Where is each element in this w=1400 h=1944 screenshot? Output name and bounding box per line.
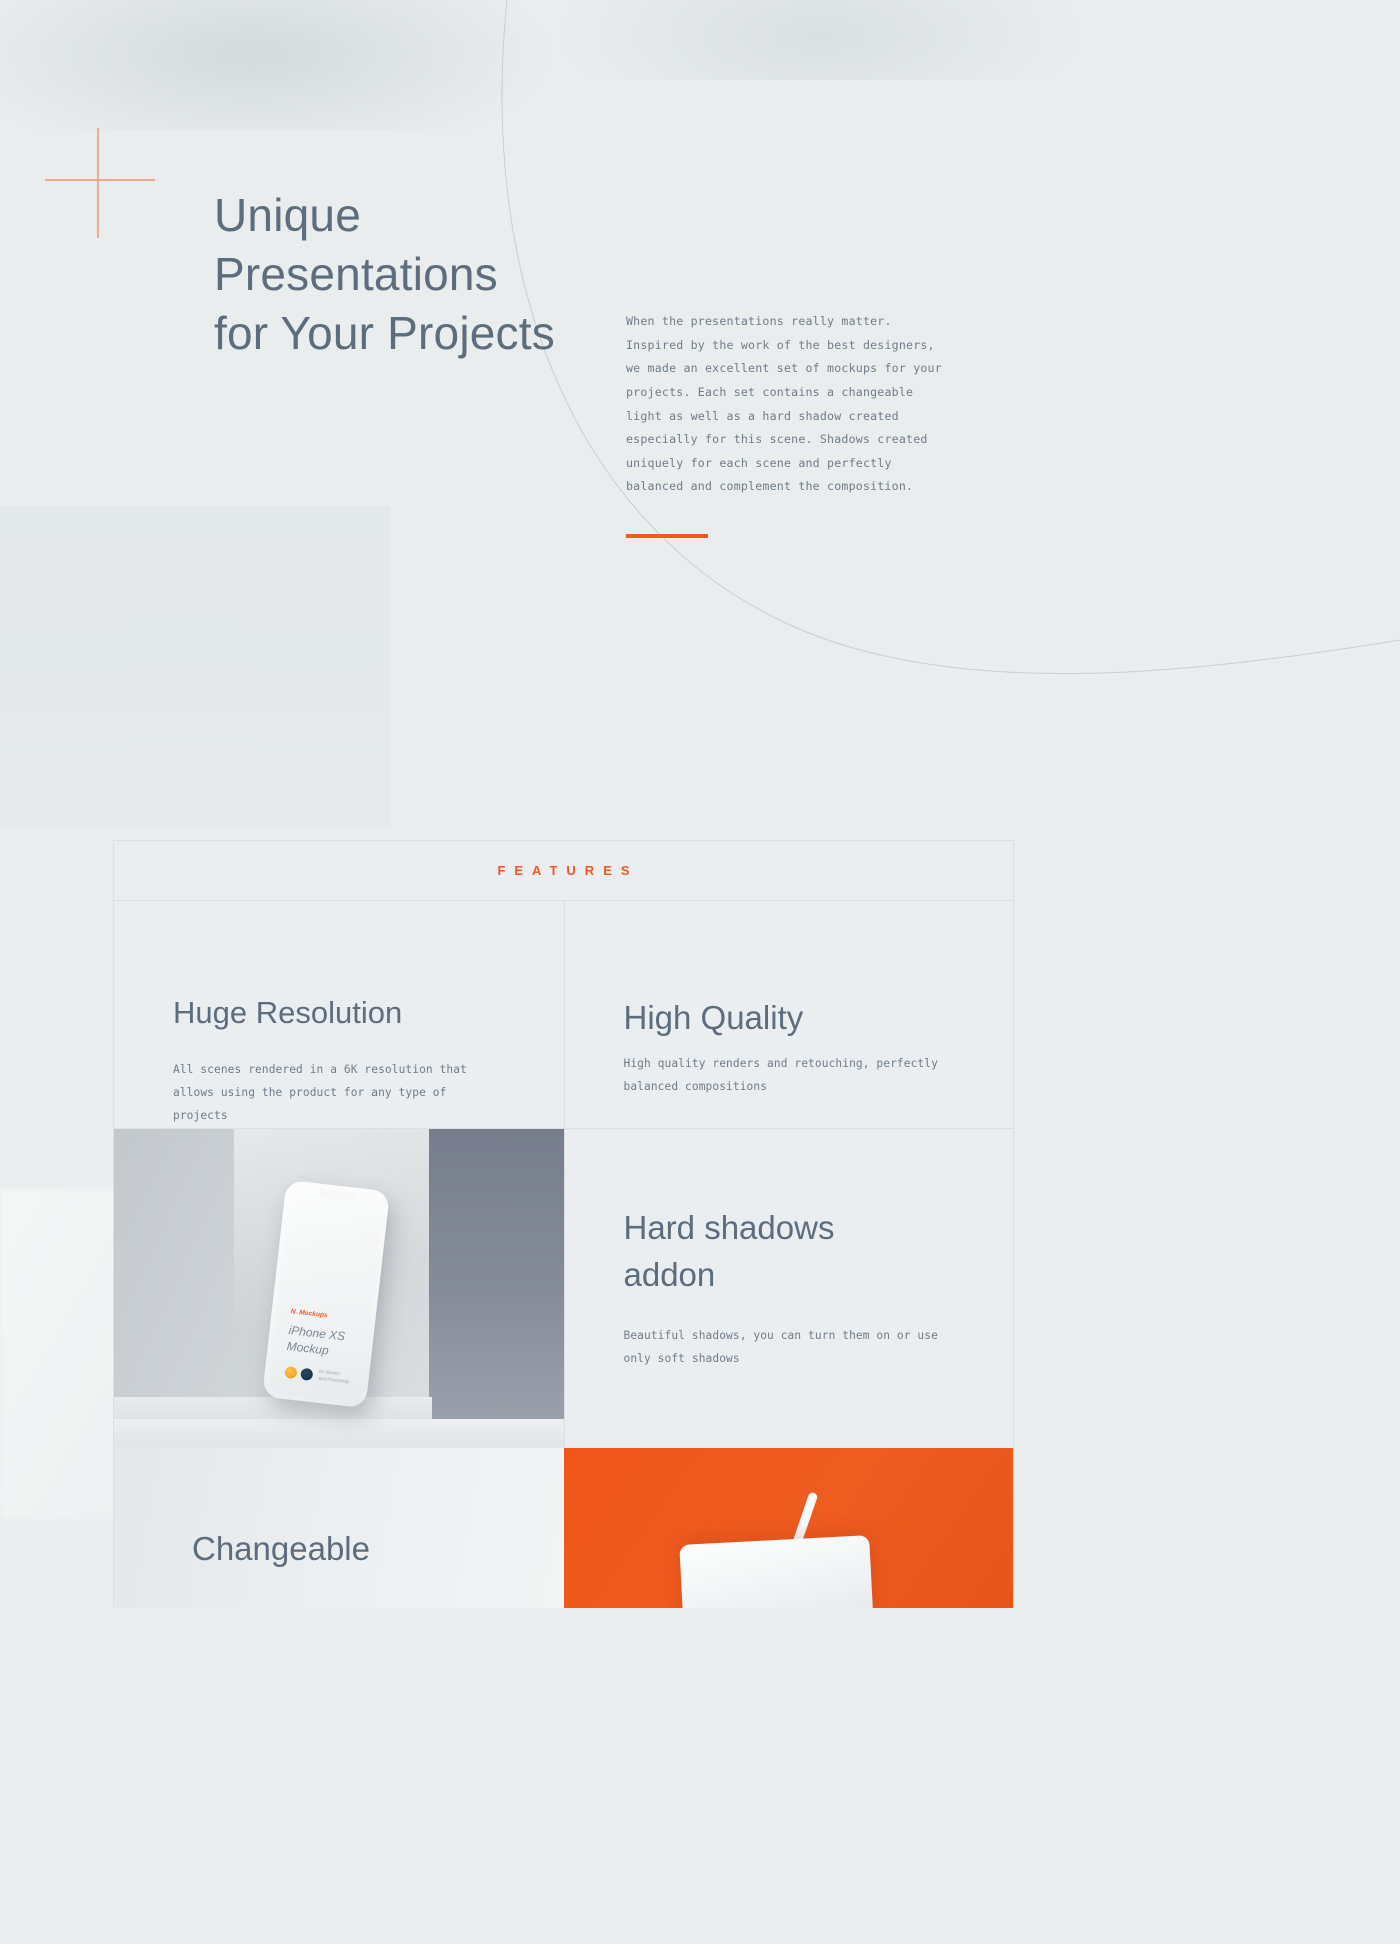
background-panel-left [0,506,390,828]
features-row-1: Huge Resolution All scenes rendered in a… [114,901,1013,1129]
phone-screen: N. Mockups iPhone XS Mockup for Sketch a… [268,1185,385,1402]
card-body: High quality renders and retouching, per… [624,1053,974,1099]
card-title: Changeable [192,1530,370,1568]
card-body: Beautiful shadows, you can turn them on … [624,1325,954,1371]
page-title: Unique Presentations for Your Projects [214,186,634,363]
features-row-3: Changeable [114,1448,1013,1608]
features-header: FEATURES [114,841,1013,901]
features-section: FEATURES Huge Resolution All scenes rend… [113,840,1014,1608]
photo-floor [114,1419,564,1448]
mockup-title: iPhone XS Mockup [286,1322,371,1363]
card-body: All scenes rendered in a 6K resolution t… [173,1059,503,1128]
orange-product-photo [564,1448,1014,1608]
feature-card-high-quality: High Quality High quality renders and re… [564,901,1014,1128]
mockup-brand: N. Mockups [290,1308,328,1319]
feature-card-huge-resolution: Huge Resolution All scenes rendered in a… [114,901,564,1128]
apps-caption: for Sketch and Photoshop [318,1369,350,1386]
features-label: FEATURES [488,863,638,878]
plus-crosshair-icon [45,128,155,238]
card-title: Hard shadows addon [624,1205,924,1299]
accent-rule [626,534,708,538]
features-row-2: N. Mockups iPhone XS Mockup for Sketch a… [114,1129,1013,1448]
background-blur-top-right [560,0,1080,80]
sketch-icon [284,1366,297,1379]
phone-notch [319,1189,356,1202]
feature-card-hard-shadows: Hard shadows addon Beautiful shadows, yo… [564,1129,1014,1448]
card-title: High Quality [624,999,804,1037]
photo-ledge [114,1397,432,1421]
phone-mockup-photo: N. Mockups iPhone XS Mockup for Sketch a… [114,1129,564,1448]
bowl-object [679,1535,874,1608]
hero-paragraph: When the presentations really matter. In… [626,310,956,499]
card-title: Huge Resolution [173,995,402,1031]
photo-wall-right [429,1129,564,1419]
photoshop-icon [300,1368,313,1381]
feature-card-changeable: Changeable [114,1448,564,1608]
background-blur-top-left [0,0,560,130]
mockup-apps: for Sketch and Photoshop [284,1365,350,1386]
